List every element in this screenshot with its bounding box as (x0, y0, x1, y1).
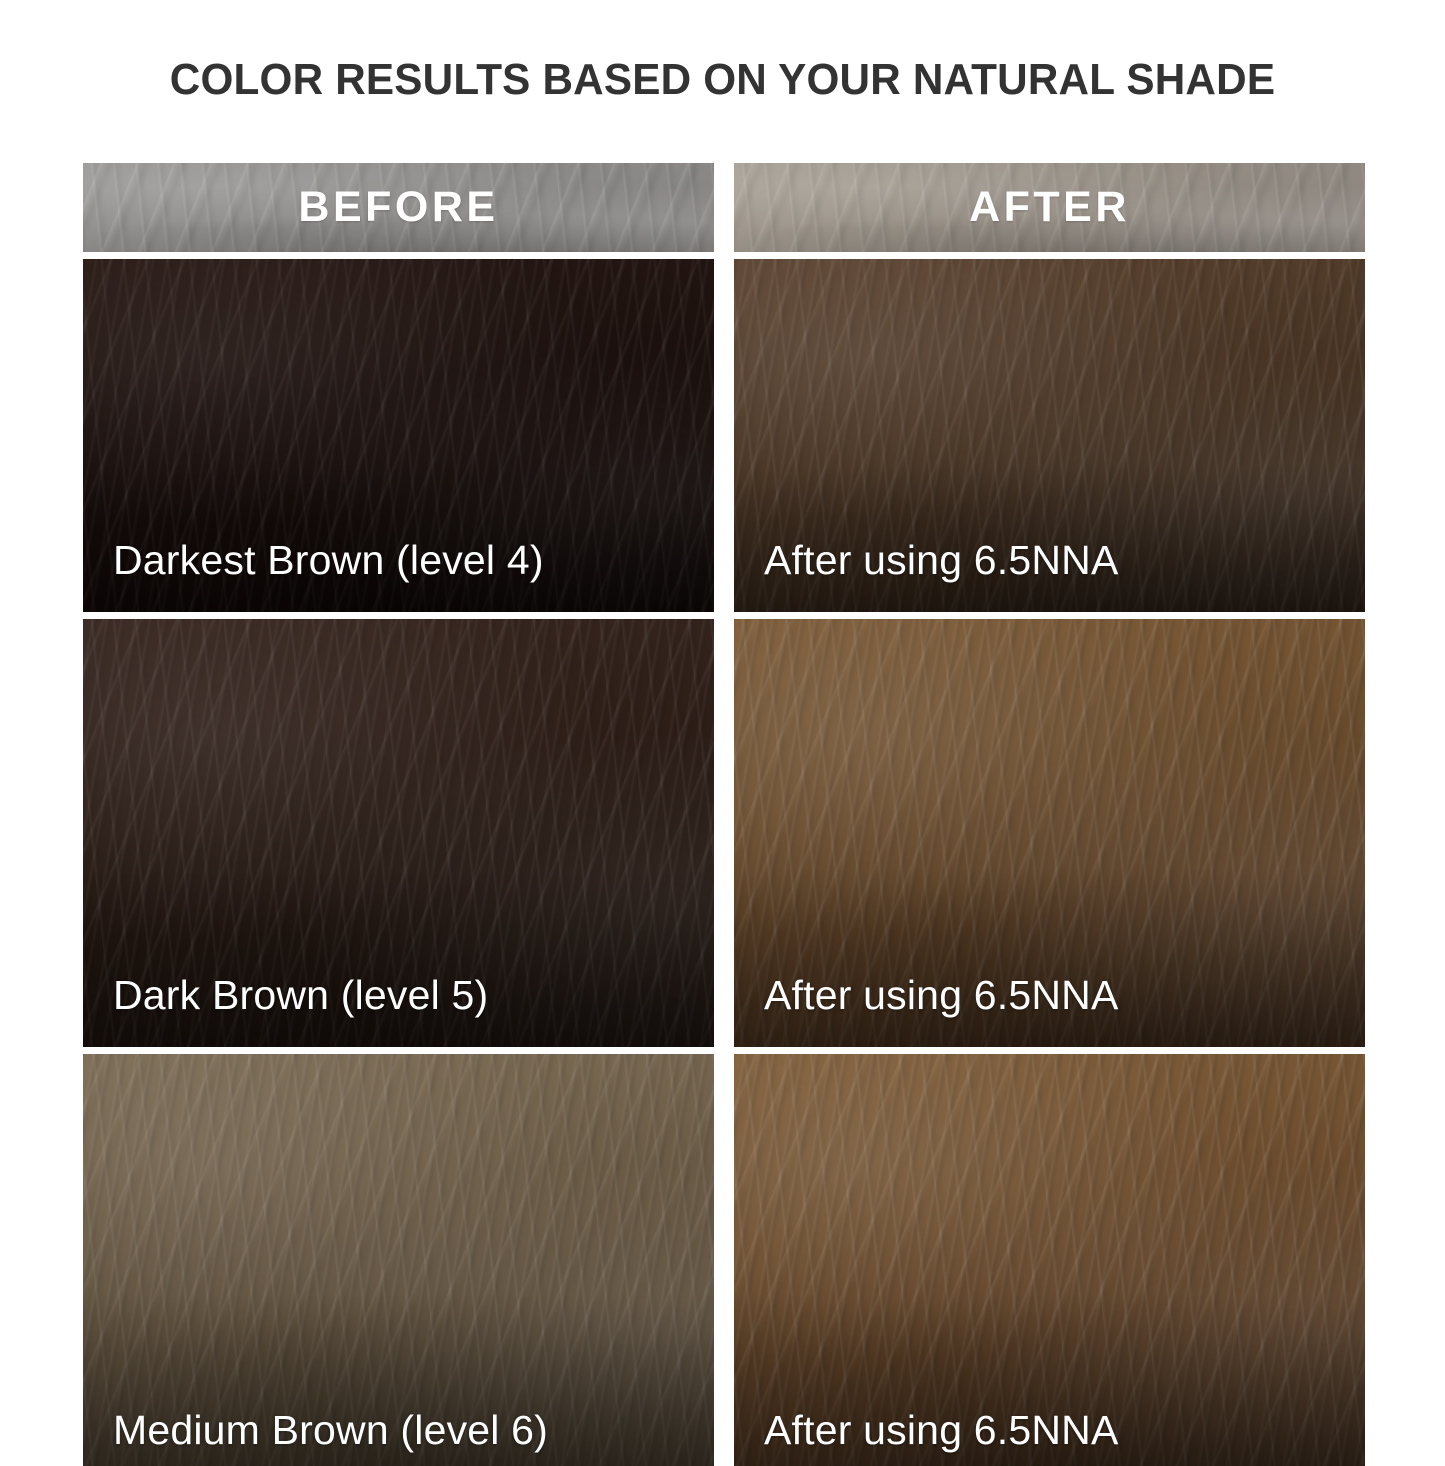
swatch-before-level-4: Darkest Brown (level 4) (83, 259, 714, 612)
swatch-label-before-level-5: Dark Brown (level 5) (113, 972, 488, 1019)
swatch-label-after-level-6: After using 6.5NNA (764, 1407, 1119, 1454)
column-header-after: AFTER (734, 163, 1365, 252)
swatch-before-level-5: Dark Brown (level 5) (83, 619, 714, 1047)
swatch-label-before-level-6: Medium Brown (level 6) (113, 1407, 548, 1454)
color-results-infographic: COLOR RESULTS BASED ON YOUR NATURAL SHAD… (0, 0, 1445, 1445)
hair-texture-before-level-6 (83, 1054, 714, 1466)
swatch-before-level-6: Medium Brown (level 6) (83, 1054, 714, 1466)
before-label: BEFORE (298, 183, 498, 232)
swatch-after-level-5: After using 6.5NNA (734, 619, 1365, 1047)
column-header-before: BEFORE (83, 163, 714, 252)
swatch-label-before-level-4: Darkest Brown (level 4) (113, 537, 544, 584)
swatch-label-after-level-5: After using 6.5NNA (764, 972, 1119, 1019)
page-title: COLOR RESULTS BASED ON YOUR NATURAL SHAD… (29, 55, 1416, 105)
swatch-after-level-6: After using 6.5NNA (734, 1054, 1365, 1466)
after-label: AFTER (969, 183, 1130, 232)
hair-texture-after-level-6 (734, 1054, 1365, 1466)
swatch-label-after-level-4: After using 6.5NNA (764, 537, 1119, 584)
swatch-after-level-4: After using 6.5NNA (734, 259, 1365, 612)
before-after-comparison-grid: BEFORE AFTER Darkest Brown (level 4) (83, 163, 1365, 1445)
